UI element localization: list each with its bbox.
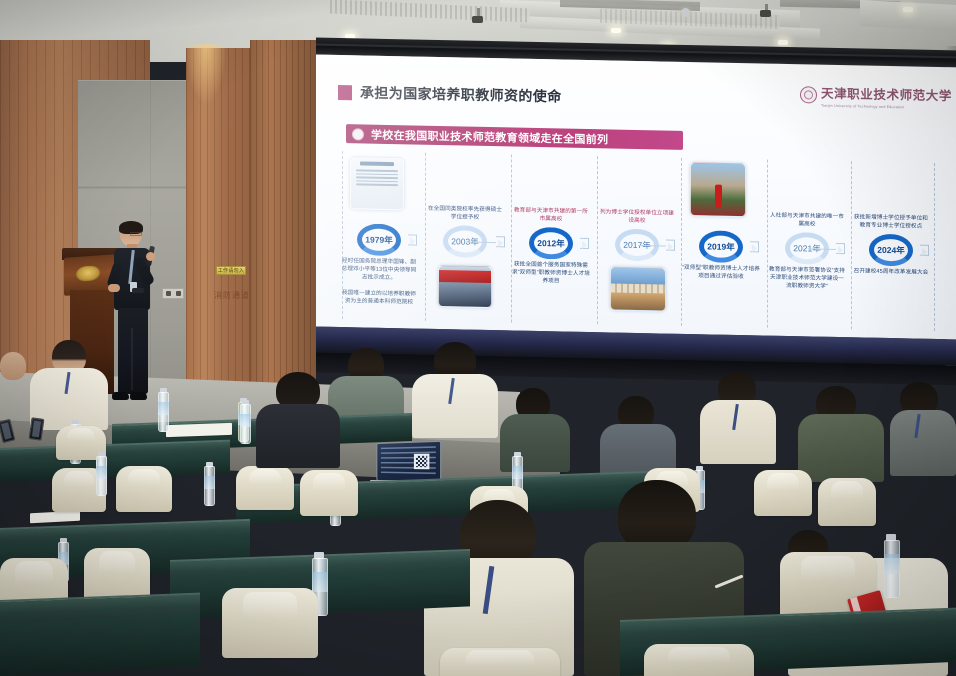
attendee <box>412 342 498 438</box>
handout-paper <box>166 423 232 437</box>
fire-exit-label: 消防通道 <box>214 290 250 301</box>
qr-code-icon <box>414 454 429 470</box>
presentation-clicker <box>132 288 144 293</box>
ceiling-fixture <box>681 8 690 17</box>
ceiling-coffer <box>860 0 956 31</box>
slide-canvas: 承担为国家培养职教师资的使命 天津职业技术师范大学 Tianjin Univer… <box>316 55 956 340</box>
presenter-hand-left <box>108 284 120 292</box>
attendee-body <box>412 374 498 438</box>
glasses-icon <box>130 232 142 236</box>
wall-light-glow <box>186 44 226 104</box>
table-front <box>0 614 200 676</box>
presentation-slide: 承担为国家培养职教师资的使命 天津职业技术师范大学 Tianjin Univer… <box>316 55 956 340</box>
wall-power-socket <box>162 288 184 299</box>
ceiling-spotlight <box>903 7 913 12</box>
page-title: 承担为国家培养职教师资的使命 <box>360 82 562 106</box>
attendee <box>500 388 570 472</box>
university-logo: 天津职业技术师范大学 Tianjin University of Technol… <box>800 82 952 110</box>
timeline-desc-above: 教育部与天津市共建的第一所市属高校 <box>512 206 590 224</box>
banner-bullet-icon <box>352 128 364 140</box>
timeline-desc-below: 经时任国务院总理华国锋、副总理邓小平等13位中央领导同志批示成立。 我国唯一建立… <box>340 257 418 307</box>
conference-hall-photo: 工作请勿入 消防通道 承担为国家培养职教师资的使命 天津职业技术师范大学 Tia… <box>0 0 956 676</box>
chair <box>754 470 812 516</box>
water-bottle <box>240 400 251 444</box>
attendee <box>890 382 956 476</box>
water-bottle <box>96 452 107 496</box>
timeline-desc-below: 教育部与天津市签署协议“支持天津职业技术师范大学建设一流职教师资大学” <box>768 266 846 292</box>
timeline-desc-below: 召开建校45周年改革发展大会 <box>852 267 930 277</box>
timeline-desc-above: 获批新增博士学位授予单位和教育专业博士学位授权点 <box>852 213 930 231</box>
timeline-desc-below: “双师型”职教师资博士人才培养项目通过评估验收 <box>682 264 760 282</box>
timeline-arrow <box>666 240 675 251</box>
timeline-node-2024: 2024年 <box>869 234 913 267</box>
water-bottle <box>158 388 169 432</box>
presenter-shoe-left <box>112 392 129 400</box>
timeline-desc-above: 在全国同类院校率先获得硕士学位授予权 <box>426 205 504 223</box>
door-warning-sign-label: 工作请勿入 <box>217 267 245 274</box>
timeline-node-2019: 2019年 <box>699 230 743 263</box>
timeline-arrow <box>750 241 759 252</box>
timeline: 1979年 经时任国务院总理华国锋、副总理邓小平等13位中央领导同志批示成立。 … <box>330 151 946 333</box>
projection-screen: 承担为国家培养职教师资的使命 天津职业技术师范大学 Tianjin Univer… <box>316 38 956 395</box>
timeline-year-label: 2024年 <box>877 244 904 257</box>
title-accent-tab <box>338 84 352 99</box>
attendee-body <box>500 414 570 472</box>
chair <box>116 466 172 512</box>
attendee-body <box>798 414 884 482</box>
timeline-node-1979: 1979年 <box>357 223 401 256</box>
banner-label: 学校在我国职业技术师范教育领域走在全国前列 <box>371 126 608 147</box>
slide-subtitle-banner: 学校在我国职业技术师范教育领域走在全国前列 <box>346 124 683 150</box>
water-bottle <box>204 462 215 506</box>
attendee <box>798 386 884 482</box>
timeline-desc-below: 获批全国首个服务国家特殊需求“双师型”职教师资博士人才培养项目 <box>512 260 590 286</box>
chair <box>236 466 294 510</box>
campus-person-thumbnail <box>690 162 746 217</box>
timeline-arrow <box>580 238 589 249</box>
document-thumbnail <box>350 157 404 210</box>
chair <box>818 478 876 526</box>
water-bottle <box>884 534 900 598</box>
university-logo-text: 天津职业技术师范大学 Tianjin University of Technol… <box>821 83 952 111</box>
timeline-desc-above: 人社部与天津市共建的唯一市属高校 <box>768 212 846 230</box>
chair <box>222 588 318 658</box>
ceremony-photo-thumbnail <box>438 265 492 308</box>
timeline-desc-above: 列为博士学位授权单位立项建设高校 <box>598 208 676 226</box>
handout-paper <box>30 511 80 524</box>
attendee <box>700 372 776 464</box>
timeline-year-label: 2019年 <box>707 240 734 253</box>
laptop-screen <box>376 441 441 483</box>
chair <box>644 644 754 676</box>
ceiling-spotlight <box>778 40 788 45</box>
university-seal-icon <box>800 86 817 103</box>
presenter <box>108 222 164 410</box>
timeline-desc-text-2: 我国唯一建立的以培养职教师资为主的普通本科师范院校 <box>342 290 416 305</box>
university-name-cn: 天津职业技术师范大学 <box>821 87 952 104</box>
door-warning-sign: 工作请勿入 <box>216 266 246 275</box>
campus-building-thumbnail <box>610 266 666 311</box>
projector <box>472 16 483 23</box>
ceiling-spotlight <box>611 28 621 33</box>
attendee-body <box>256 404 340 468</box>
timeline-arrow <box>496 236 505 247</box>
chair <box>300 470 358 516</box>
presenter-legs <box>118 308 148 394</box>
attendee <box>256 372 340 468</box>
timeline-arrow <box>920 245 929 256</box>
presenter-shoe-right <box>130 392 147 400</box>
timeline-arrow <box>408 234 417 245</box>
timeline-node-2012: 2012年 <box>529 227 573 260</box>
chair <box>440 648 560 676</box>
timeline-year-label: 1979年 <box>365 234 392 247</box>
presenter-hand-right <box>146 252 155 261</box>
projector <box>760 10 771 17</box>
timeline-arrow <box>836 243 845 254</box>
timeline-year-label: 2012年 <box>537 237 564 250</box>
timeline-desc-text: 经时任国务院总理华国锋、副总理邓小平等13位中央领导同志批示成立。 <box>342 258 417 281</box>
slide-title-row: 承担为国家培养职教师资的使命 <box>338 82 562 106</box>
university-name-en: Tianjin University of Technology and Edu… <box>821 104 952 111</box>
attendee-body <box>890 410 956 476</box>
